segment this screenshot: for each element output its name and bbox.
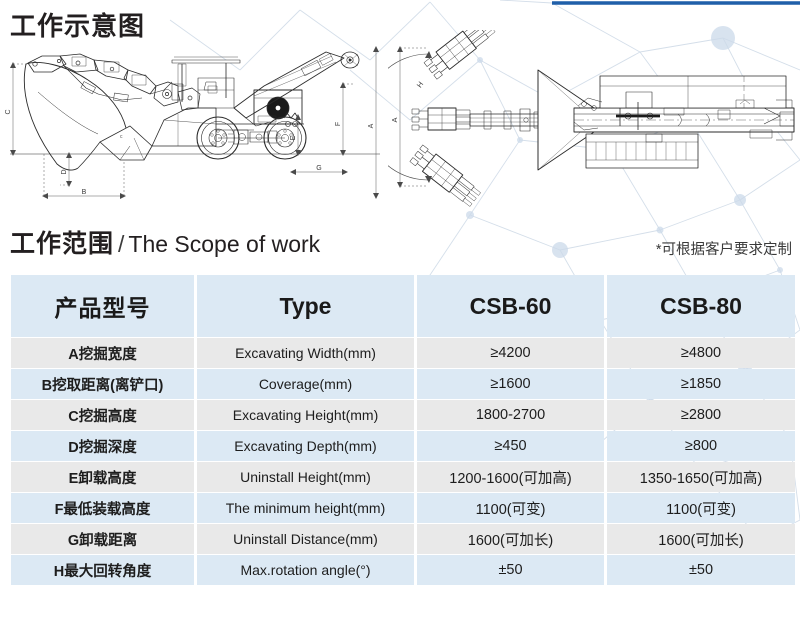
row-label: F最低装载高度 — [11, 493, 194, 523]
row-label: C挖掘高度 — [11, 400, 194, 430]
row-label-en: Uninstall Distance(mm) — [197, 524, 414, 554]
scope-title-en: The Scope of work — [128, 231, 320, 257]
row-value-csb80: ≥1850 — [607, 369, 795, 399]
table-row: G卸载距离 Uninstall Distance(mm) 1600(可加长) 1… — [11, 524, 795, 554]
row-value-csb80: 1350-1650(可加高) — [607, 462, 795, 492]
row-label: G卸载距离 — [11, 524, 194, 554]
row-label: B挖取距离(离铲口) — [11, 369, 194, 399]
row-value-csb80: 1600(可加长) — [607, 524, 795, 554]
row-value-csb80: ≥2800 — [607, 400, 795, 430]
row-label-en: Uninstall Height(mm) — [197, 462, 414, 492]
table-row: D挖掘深度 Excavating Depth(mm) ≥450 ≥800 — [11, 431, 795, 461]
table-row: E卸载高度 Uninstall Height(mm) 1200-1600(可加高… — [11, 462, 795, 492]
row-label-en: The minimum height(mm) — [197, 493, 414, 523]
column-header-csb80: CSB-80 — [607, 275, 795, 337]
top-view-machine-drawing: A H — [388, 30, 800, 210]
dim-label-b: B — [82, 189, 87, 196]
specification-table: 产品型号 Type CSB-60 CSB-80 A挖掘宽度 Excavating… — [8, 274, 798, 586]
row-value-csb60: 1200-1600(可加高) — [417, 462, 604, 492]
dim-label-g: G — [316, 165, 321, 172]
side-view-machine-drawing: C D B E F G A c — [2, 42, 388, 202]
dim-label-h-top: H — [415, 80, 425, 90]
scope-title-zh: 工作范围 — [10, 230, 114, 258]
row-label-en: Excavating Depth(mm) — [197, 431, 414, 461]
row-label-en: Excavating Width(mm) — [197, 338, 414, 368]
row-value-csb60: ±50 — [417, 555, 604, 585]
scope-section-heading: 工作范围/The Scope of work — [10, 224, 320, 260]
table-row: A挖掘宽度 Excavating Width(mm) ≥4200 ≥4800 — [11, 338, 795, 368]
page-title: 工作示意图 — [10, 6, 145, 43]
svg-text:c: c — [120, 134, 123, 140]
row-label: A挖掘宽度 — [11, 338, 194, 368]
column-header-csb60: CSB-60 — [417, 275, 604, 337]
row-value-csb60: 1800-2700 — [417, 400, 604, 430]
dim-label-f: F — [335, 122, 342, 126]
product-spec-page: 工作示意图 — [0, 0, 800, 618]
row-label: D挖掘深度 — [11, 431, 194, 461]
dim-label-a: A — [368, 123, 375, 128]
table-row: B挖取距离(离铲口) Coverage(mm) ≥1600 ≥1850 — [11, 369, 795, 399]
dim-label-a-top: A — [390, 117, 399, 122]
table-body: A挖掘宽度 Excavating Width(mm) ≥4200 ≥4800 B… — [11, 338, 795, 585]
row-value-csb60: ≥1600 — [417, 369, 604, 399]
row-value-csb60: 1600(可加长) — [417, 524, 604, 554]
row-label-en: Max.rotation angle(°) — [197, 555, 414, 585]
dim-label-d: D — [61, 169, 68, 174]
row-label-en: Excavating Height(mm) — [197, 400, 414, 430]
table-row: H最大回转角度 Max.rotation angle(°) ±50 ±50 — [11, 555, 795, 585]
row-value-csb80: ≥800 — [607, 431, 795, 461]
dim-label-c: C — [5, 109, 12, 114]
scope-title-separator: / — [118, 231, 124, 257]
dim-label-e: E — [290, 135, 297, 140]
table-row: C挖掘高度 Excavating Height(mm) 1800-2700 ≥2… — [11, 400, 795, 430]
row-label: E卸载高度 — [11, 462, 194, 492]
row-label-en: Coverage(mm) — [197, 369, 414, 399]
row-label: H最大回转角度 — [11, 555, 194, 585]
row-value-csb80: 1100(可变) — [607, 493, 795, 523]
table-header-row: 产品型号 Type CSB-60 CSB-80 — [11, 275, 795, 337]
column-header-model-zh: 产品型号 — [11, 275, 194, 337]
row-value-csb80: ≥4800 — [607, 338, 795, 368]
customization-note: *可根据客户要求定制 — [656, 238, 792, 259]
table-row: F最低装载高度 The minimum height(mm) 1100(可变) … — [11, 493, 795, 523]
row-value-csb60: ≥450 — [417, 431, 604, 461]
row-value-csb80: ±50 — [607, 555, 795, 585]
column-header-type: Type — [197, 275, 414, 337]
row-value-csb60: 1100(可变) — [417, 493, 604, 523]
row-value-csb60: ≥4200 — [417, 338, 604, 368]
